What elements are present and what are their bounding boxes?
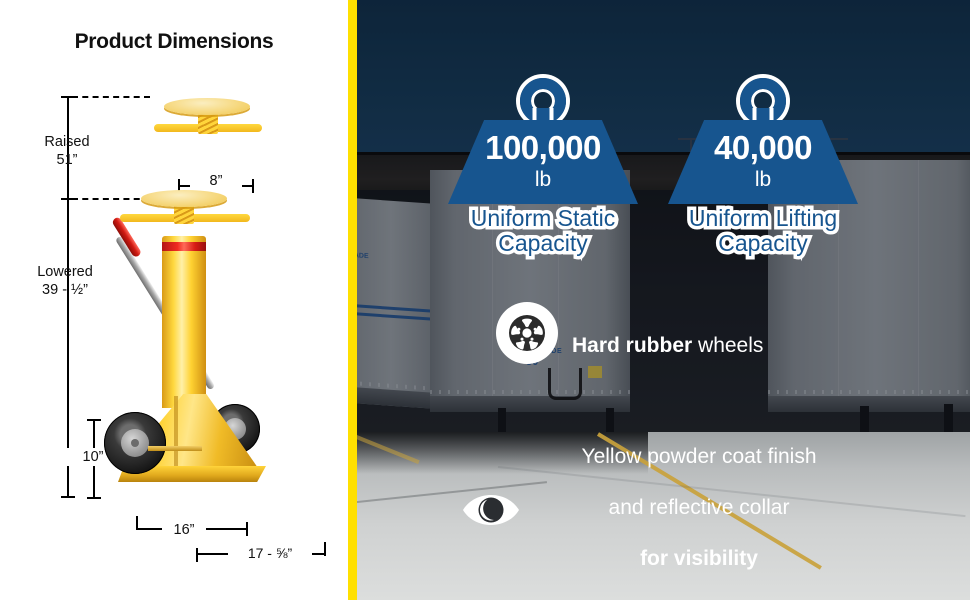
weight-block: 40,000 lb bbox=[668, 120, 858, 204]
dimension-label-overall-depth: 17 - ⅝” bbox=[228, 545, 312, 563]
weight-hook-icon bbox=[740, 78, 786, 124]
badge-weight-unit: lb bbox=[668, 168, 858, 192]
badge-caption: Uniform Lifting Capacity bbox=[646, 206, 880, 256]
weight-block: 100,000 lb bbox=[448, 120, 638, 204]
overall-depth-left-tick bbox=[196, 548, 198, 562]
base-depth-right-tick bbox=[246, 522, 248, 536]
feature-line-3: for visibility bbox=[568, 546, 830, 572]
product-dimensions-panel: Product Dimensions Raised 51” Lowered 39… bbox=[0, 0, 348, 600]
jack-top-plate-raised bbox=[164, 98, 250, 115]
feature-line-2: and reflective collar bbox=[568, 495, 830, 521]
jack-collar-housing bbox=[160, 224, 208, 241]
jack-top-plate bbox=[141, 190, 227, 207]
eye-icon-glyph bbox=[461, 486, 541, 534]
jack-illustration bbox=[100, 196, 290, 506]
photo-feature-panel: CASCADE ▼ CASCADE 80 bbox=[348, 0, 970, 600]
page-title: Product Dimensions bbox=[0, 30, 348, 54]
jack-base-assembly bbox=[100, 394, 290, 506]
jack-raised-top-plate bbox=[158, 96, 258, 140]
jack-wheel-front bbox=[104, 412, 166, 474]
badge-weight-number: 40,000 bbox=[668, 129, 858, 167]
jack-axle-bar bbox=[148, 446, 202, 451]
jack-reflective-collar bbox=[162, 242, 206, 251]
feature-hard-rubber-wheels: Hard rubber wheels bbox=[496, 302, 763, 364]
dimension-label-plate-width: 8” bbox=[190, 172, 242, 190]
jack-screw-neck bbox=[174, 204, 194, 224]
jack-screw-neck-raised bbox=[198, 112, 218, 134]
overall-depth-right-tick bbox=[324, 542, 326, 556]
wheel-icon-glyph bbox=[505, 311, 549, 355]
badge-weight-unit: lb bbox=[448, 168, 638, 192]
raised-top-extension-line bbox=[72, 96, 150, 98]
jack-cylinder bbox=[162, 236, 206, 408]
base-depth-left-tick bbox=[136, 516, 138, 530]
feature-label-rest: wheels bbox=[692, 334, 763, 357]
feature-line-1: Yellow powder coat finish bbox=[568, 444, 830, 470]
feature-label-visibility: Yellow powder coat finish and reflective… bbox=[568, 418, 830, 597]
plate-width-right-tick bbox=[252, 179, 254, 193]
weight-hook-icon bbox=[520, 78, 566, 124]
wheel-icon bbox=[496, 302, 558, 364]
feature-visibility: Yellow powder coat finish and reflective… bbox=[470, 418, 830, 597]
wheel-height-top-tick bbox=[87, 419, 101, 421]
jack-wheel-hub-nut bbox=[131, 439, 139, 447]
infographic-page: Product Dimensions Raised 51” Lowered 39… bbox=[0, 0, 970, 600]
feature-label-bold: Hard rubber bbox=[572, 334, 692, 357]
wheel-height-bottom-tick bbox=[87, 497, 101, 499]
dimension-label-raised: Raised 51” bbox=[8, 133, 126, 169]
badge-caption: Uniform Static Capacity bbox=[426, 206, 660, 256]
badge-weight-number: 100,000 bbox=[448, 129, 638, 167]
lowered-bottom-tick bbox=[61, 496, 75, 498]
dimension-label-base-depth: 16” bbox=[162, 521, 206, 539]
vertical-divider bbox=[348, 0, 357, 600]
eye-icon bbox=[470, 477, 532, 539]
jack-base-rib bbox=[174, 396, 178, 468]
feature-label: Hard rubber wheels bbox=[572, 307, 763, 358]
